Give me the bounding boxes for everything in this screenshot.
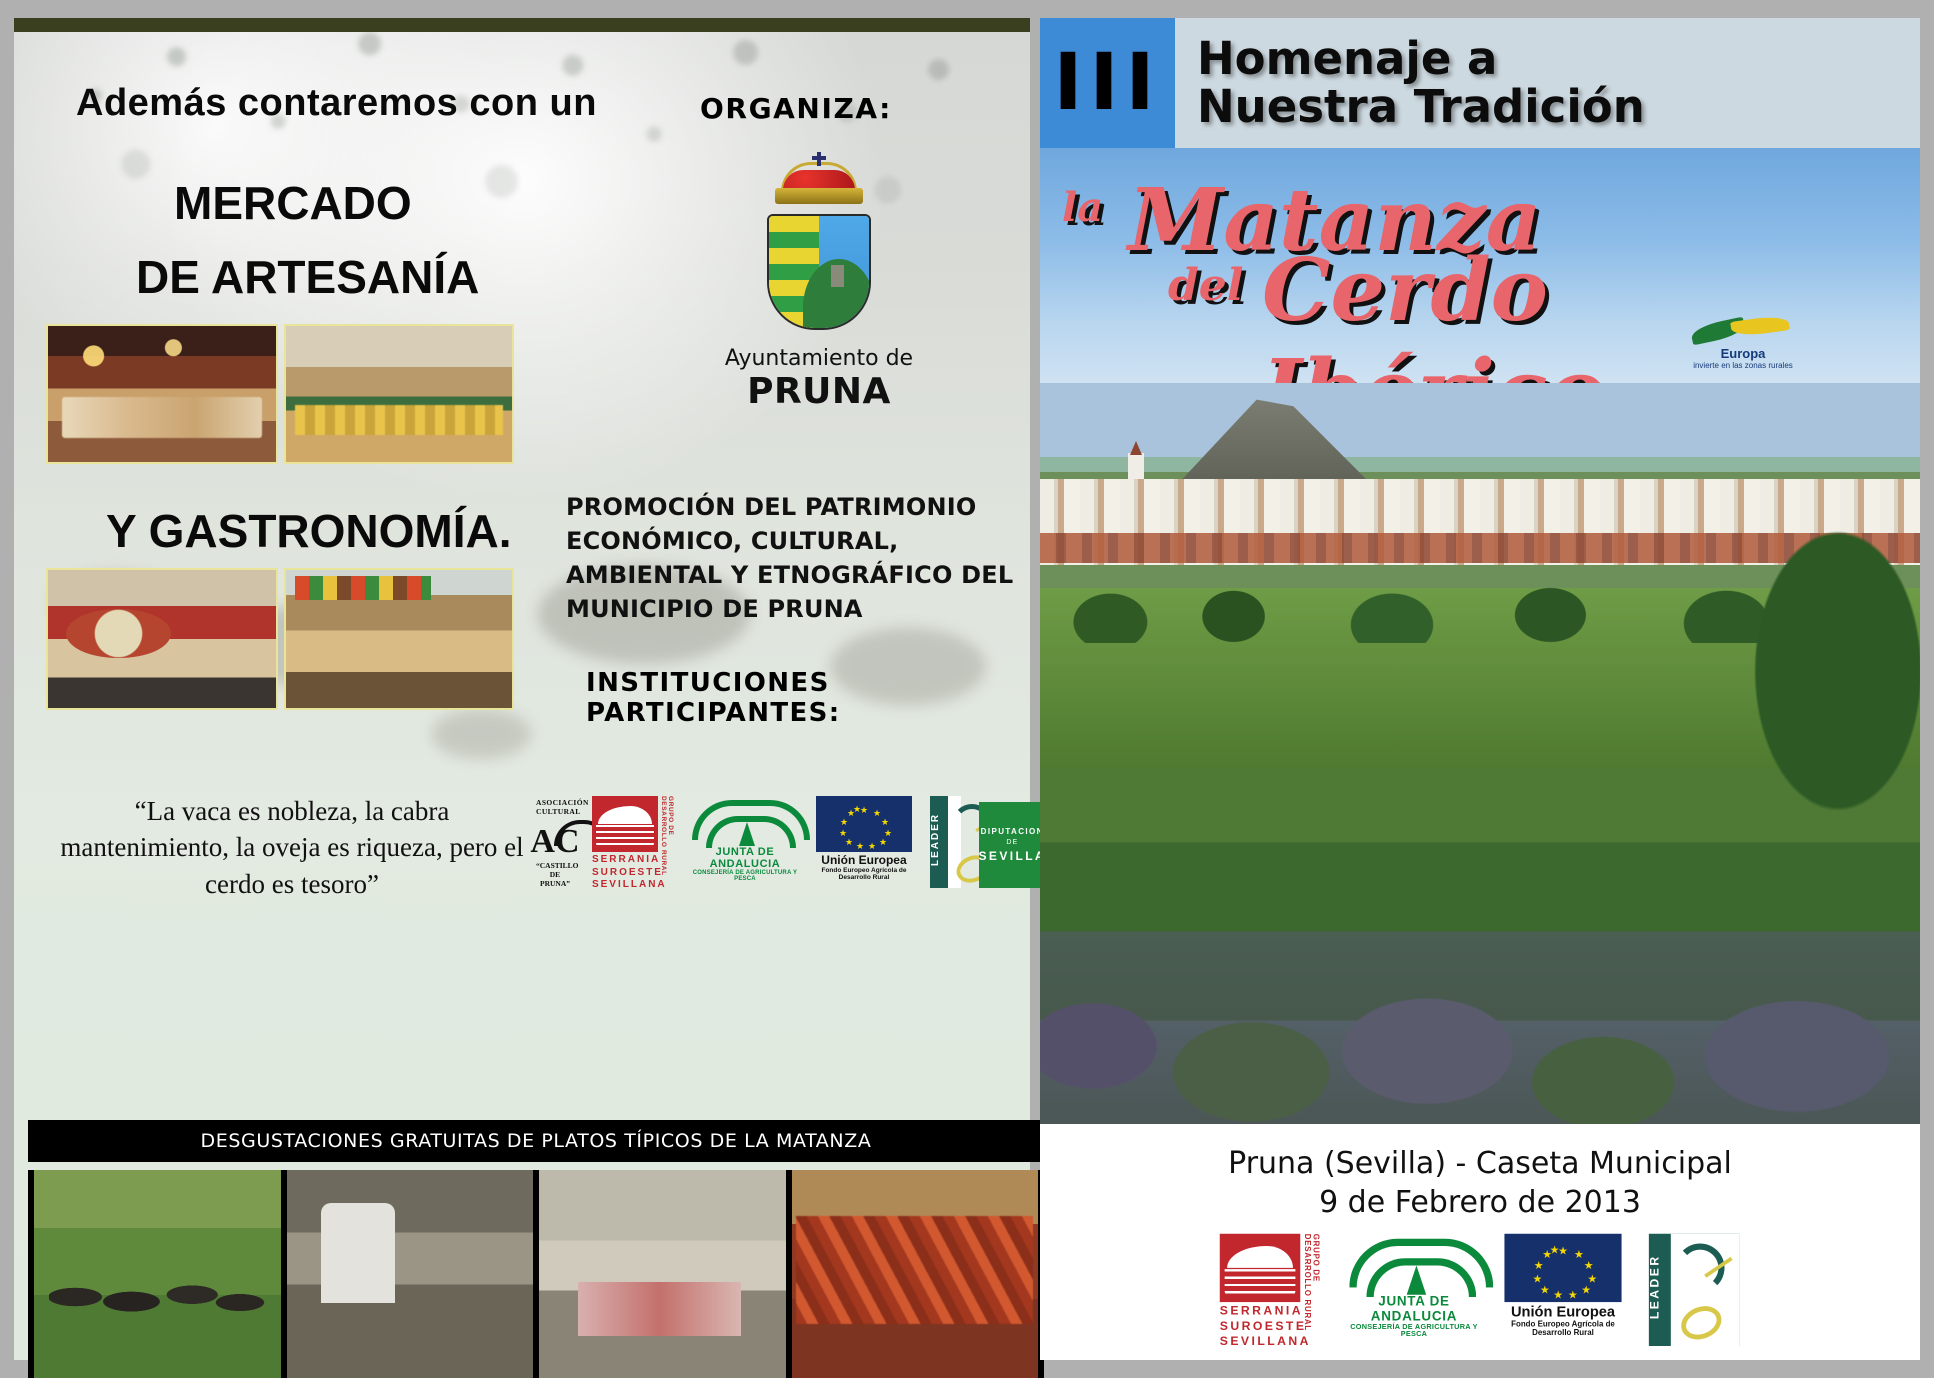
- top-rule-divider: [14, 18, 1030, 32]
- ac-logo-bottom-text: “CASTILLO DE PRUNA”: [536, 861, 574, 888]
- serrania-line1: SERRANIA: [592, 854, 658, 867]
- event-date: 9 de Febrero de 2013: [1319, 1185, 1641, 1220]
- footer-logo-leader: LEADER: [1649, 1234, 1739, 1346]
- crest-town-name: PRUNA: [714, 371, 924, 412]
- footer-logo-union-europea: ★ ★ ★ ★ ★ ★ ★ ★ ★ ★ ★ ★ Unión Europea: [1504, 1234, 1621, 1346]
- footer-eu-line2: Fondo Europeo Agrícola de Desarrollo Rur…: [1504, 1320, 1621, 1338]
- eu-line1: Unión Europea: [816, 853, 912, 867]
- logo-serrania-suroeste-sevillana: SERRANIA SUROESTE SEVILLANA GRUPO DE DES…: [592, 796, 674, 888]
- footer-junta-line2: CONSEJERÍA DE AGRICULTURA Y PESCA: [1347, 1324, 1481, 1339]
- footer-serrania-mountain-icon: [1220, 1234, 1301, 1302]
- footer-logo-serrania-suroeste-sevillana: SERRANIA SUROESTE SEVILLANA GRUPO DE DES…: [1220, 1234, 1322, 1346]
- footer-leader-emblem-icon: [1671, 1234, 1739, 1346]
- logo-diputacion-de-sevilla: DIPUTACION DE SEVILLA: [979, 802, 1046, 888]
- intro-heading: Además contaremos con un: [76, 82, 597, 125]
- right-footer: Pruna (Sevilla) - Caseta Municipal 9 de …: [1040, 1124, 1920, 1360]
- heading-mercado: MERCADO: [174, 176, 412, 230]
- junta-line1: JUNTA DE ANDALUCIA: [692, 846, 798, 870]
- footer-logo-junta-de-andalucia: JUNTA DE ANDALUCIA CONSEJERÍA DE AGRICUL…: [1347, 1234, 1481, 1346]
- title-line-1: Homenaje a: [1197, 35, 1920, 83]
- free-tasting-banner: DESGUSTACIONES GRATUITAS DE PLATOS TÍPIC…: [28, 1120, 1044, 1162]
- serrania-mountain-icon: [592, 796, 658, 852]
- venue-text: Pruna (Sevilla) - Caseta Municipal: [1228, 1146, 1732, 1181]
- right-panel: III Homenaje a Nuestra Tradición la Mata…: [1040, 18, 1920, 1360]
- diputacion-line1: DIPUTACION: [981, 827, 1044, 836]
- organiza-label: ORGANIZA:: [700, 92, 892, 125]
- crest-subtitle: Ayuntamiento de: [714, 346, 924, 371]
- ac-monogram: AC: [530, 823, 579, 861]
- eu-line2: Fondo Europeo Agrícola de Desarrollo Rur…: [816, 867, 912, 882]
- serrania-line3: SEVILLANA: [592, 879, 658, 892]
- footer-logos-row: SERRANIA SUROESTE SEVILLANA GRUPO DE DES…: [1229, 1254, 1731, 1346]
- serrania-line2: SUROESTE: [592, 867, 658, 880]
- footer-serrania-line3: SEVILLANA: [1220, 1335, 1301, 1350]
- junta-line2: CONSEJERÍA DE AGRICULTURA Y PESCA: [692, 870, 798, 882]
- script-word-del: del: [1168, 260, 1243, 311]
- photo-food-market-stall: [284, 324, 514, 464]
- photo-pruna-village-landscape: [1040, 383, 1920, 1124]
- event-title: Homenaje a Nuestra Tradición: [1175, 18, 1920, 148]
- logo-europa-zonas-rurales: Europa invierte en las zonas rurales: [1678, 316, 1808, 370]
- photo-cheese-and-cured-meats: [46, 568, 278, 710]
- footer-eu-flag-icon: ★ ★ ★ ★ ★ ★ ★ ★ ★ ★ ★ ★: [1504, 1234, 1621, 1302]
- photo-butchering-the-pig: [287, 1170, 534, 1378]
- footer-junta-line1: JUNTA DE ANDALUCIA: [1347, 1295, 1481, 1324]
- junta-arches-icon: [692, 800, 798, 846]
- footer-eu-line1: Unión Europea: [1504, 1303, 1621, 1320]
- ayuntamiento-crest-block: Ayuntamiento de PRUNA: [714, 158, 924, 412]
- script-word-la: la: [1062, 184, 1103, 231]
- photo-iberian-pigs-in-dehesa: [34, 1170, 281, 1378]
- edition-number: III: [1040, 18, 1175, 148]
- heading-artesania: DE ARTESANÍA: [136, 250, 479, 304]
- serrania-side-text: GRUPO DE DESARROLLO RURAL: [660, 796, 674, 888]
- right-header: III Homenaje a Nuestra Tradición: [1040, 18, 1920, 148]
- title-line-2: Nuestra Tradición: [1197, 83, 1920, 131]
- photo-spices-and-nuts-stall: [284, 568, 514, 710]
- royal-crown-icon: [769, 158, 869, 210]
- leader-label: LEADER: [930, 796, 948, 888]
- logo-junta-de-andalucia: JUNTA DE ANDALUCIA CONSEJERÍA DE AGRICUL…: [692, 796, 798, 888]
- logo-asociacion-cultural-castillo-de-pruna: ASOCIACIÓN CULTURAL AC “CASTILLO DE PRUN…: [536, 796, 574, 888]
- photo-hanging-chorizo-sausages: [792, 1170, 1039, 1378]
- footer-leader-label: LEADER: [1649, 1234, 1671, 1346]
- right-page-edge: [1920, 18, 1934, 1360]
- footer-serrania-line1: SERRANIA: [1220, 1305, 1301, 1320]
- ac-logo-top-text: ASOCIACIÓN CULTURAL: [536, 798, 574, 816]
- pruna-shield-icon: [767, 214, 871, 330]
- logo-union-europea: ★ ★ ★ ★ ★ ★ ★ ★ ★ ★ ★ ★ Unión Europea Fo…: [816, 796, 912, 888]
- institution-logos-row: ASOCIACIÓN CULTURAL AC “CASTILLO DE PRUN…: [536, 778, 1046, 888]
- heading-gastronomia: Y GASTRONOMÍA.: [106, 504, 512, 558]
- footer-junta-arches-icon: [1349, 1239, 1478, 1295]
- proverb-quote: “La vaca es nobleza, la cabra mantenimie…: [52, 793, 532, 902]
- left-panel: Además contaremos con un MERCADO DE ARTE…: [14, 18, 1030, 1360]
- instituciones-label: INSTITUCIONES PARTICIPANTES:: [586, 668, 1030, 728]
- europa-line2: invierte en las zonas rurales: [1678, 361, 1808, 370]
- logo-leader: LEADER: [930, 796, 961, 888]
- script-title-sky-band: la Matanza del Cerdo Ibérico Europa invi…: [1040, 148, 1920, 383]
- footer-serrania-side-text: GRUPO DE DESARROLLO RURAL: [1303, 1234, 1320, 1346]
- poster-root: Además contaremos con un MERCADO DE ARTE…: [0, 0, 1934, 1378]
- leader-emblem-icon: [948, 796, 961, 888]
- promotion-text: PROMOCIÓN DEL PATRIMONIO ECONÓMICO, CULT…: [566, 490, 1036, 626]
- bottom-photo-strip: [28, 1170, 1044, 1378]
- photo-preparing-the-meat: [539, 1170, 786, 1378]
- diputacion-line3: SEVILLA: [979, 849, 1046, 863]
- diputacion-line2: DE: [1006, 839, 1018, 846]
- photo-craft-market-stall: [46, 324, 278, 464]
- footer-serrania-line2: SUROESTE: [1220, 1320, 1301, 1335]
- eu-flag-icon: ★ ★ ★ ★ ★ ★ ★ ★ ★ ★ ★ ★: [816, 796, 912, 852]
- europa-line1: Europa: [1678, 346, 1808, 361]
- europa-leaves-icon: [1683, 316, 1803, 346]
